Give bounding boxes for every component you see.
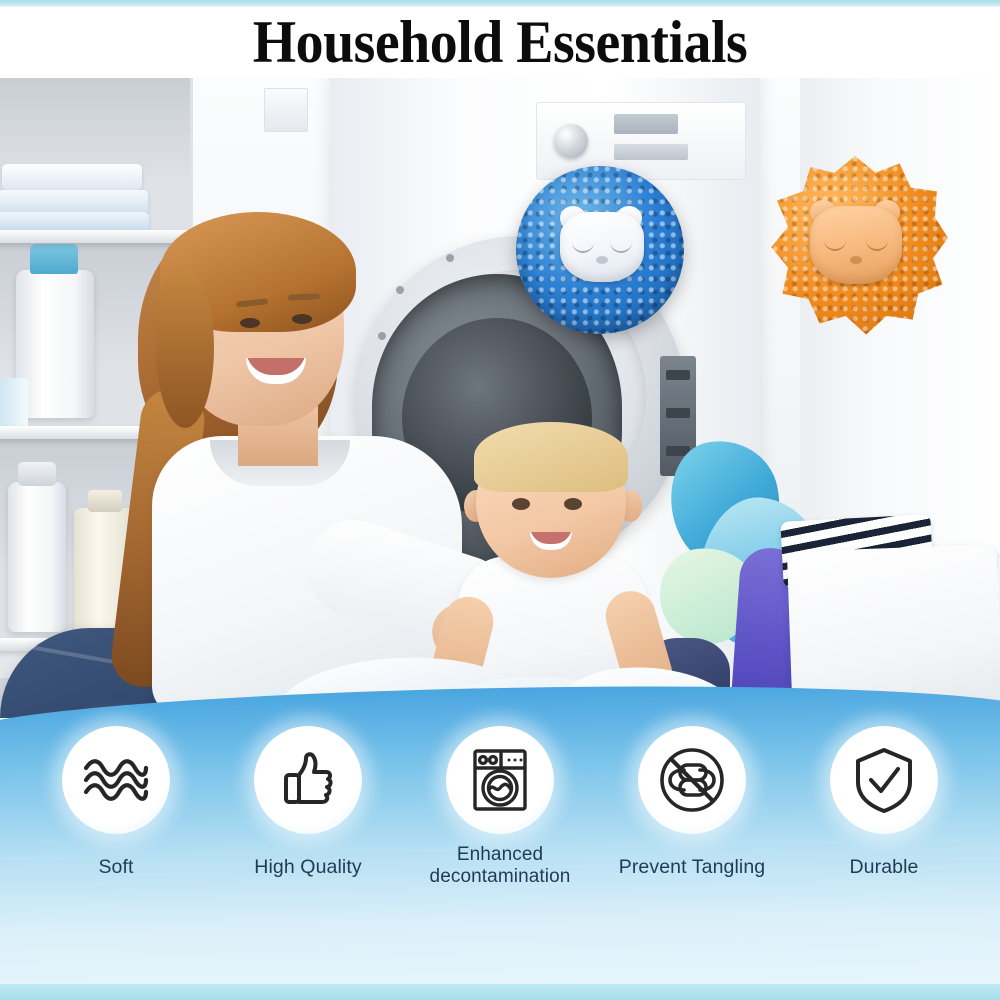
detergent-drawer: [264, 88, 308, 132]
woman-eye: [240, 318, 260, 328]
woman-figure: [60, 208, 480, 718]
feature-icon-circle: [638, 726, 746, 834]
feature-label: Soft: [98, 856, 133, 879]
feature-icon-circle: [254, 726, 362, 834]
feature-label: Durable: [850, 856, 919, 879]
bear-face-orange: [810, 206, 902, 284]
washing-machine-icon: [471, 748, 529, 812]
page-title: Household Essentials: [35, 5, 965, 79]
waves-icon: [83, 756, 149, 804]
program-knob: [554, 124, 588, 158]
detergent-bottle: [8, 482, 66, 632]
product-orange-lint-ball: [762, 156, 948, 342]
feature-high-quality: High Quality: [218, 726, 398, 879]
woman-eye: [292, 314, 312, 324]
title-band: Household Essentials: [0, 7, 1000, 78]
bear-eye: [572, 242, 594, 253]
display-screen: [614, 114, 678, 134]
bear-eye: [824, 240, 846, 251]
baby-hair: [474, 422, 628, 492]
bottom-accent-strip: [0, 984, 1000, 1000]
display-screen: [614, 144, 688, 160]
feature-soft: Soft: [26, 726, 206, 879]
no-tangle-icon: [658, 746, 726, 814]
shield-check-icon: [853, 746, 915, 814]
baby-eye: [512, 498, 530, 510]
feature-label: High Quality: [254, 856, 361, 879]
feature-durable: Durable: [794, 726, 974, 879]
thumbs-up-icon: [277, 749, 339, 811]
folded-towel: [2, 164, 142, 190]
feature-label: Prevent Tangling: [619, 856, 766, 879]
bear-face-white: [560, 212, 644, 282]
bottle-cap: [18, 462, 56, 486]
product-advertisement: Household Essentials: [0, 0, 1000, 1000]
feature-prevent-tangling: Prevent Tangling: [602, 726, 782, 879]
feature-label-line: decontamination: [430, 866, 571, 888]
baby-eye: [564, 498, 582, 510]
small-bottle: [0, 378, 28, 432]
feature-icon-circle: [62, 726, 170, 834]
feature-icon-circle: [830, 726, 938, 834]
feature-icon-circle: [446, 726, 554, 834]
woman-hair-side: [156, 268, 214, 428]
bear-nose: [596, 256, 608, 264]
features-list: Soft High Quality: [0, 726, 1000, 956]
bear-eye: [610, 242, 632, 253]
bear-eye: [866, 240, 888, 251]
feature-enhanced-decontamination: Enhanced decontamination: [410, 726, 590, 889]
product-blue-lint-ball: [516, 166, 684, 334]
bear-nose: [850, 256, 862, 264]
feature-label-line: Enhanced: [430, 844, 571, 866]
feature-label: Enhanced decontamination: [430, 844, 571, 889]
